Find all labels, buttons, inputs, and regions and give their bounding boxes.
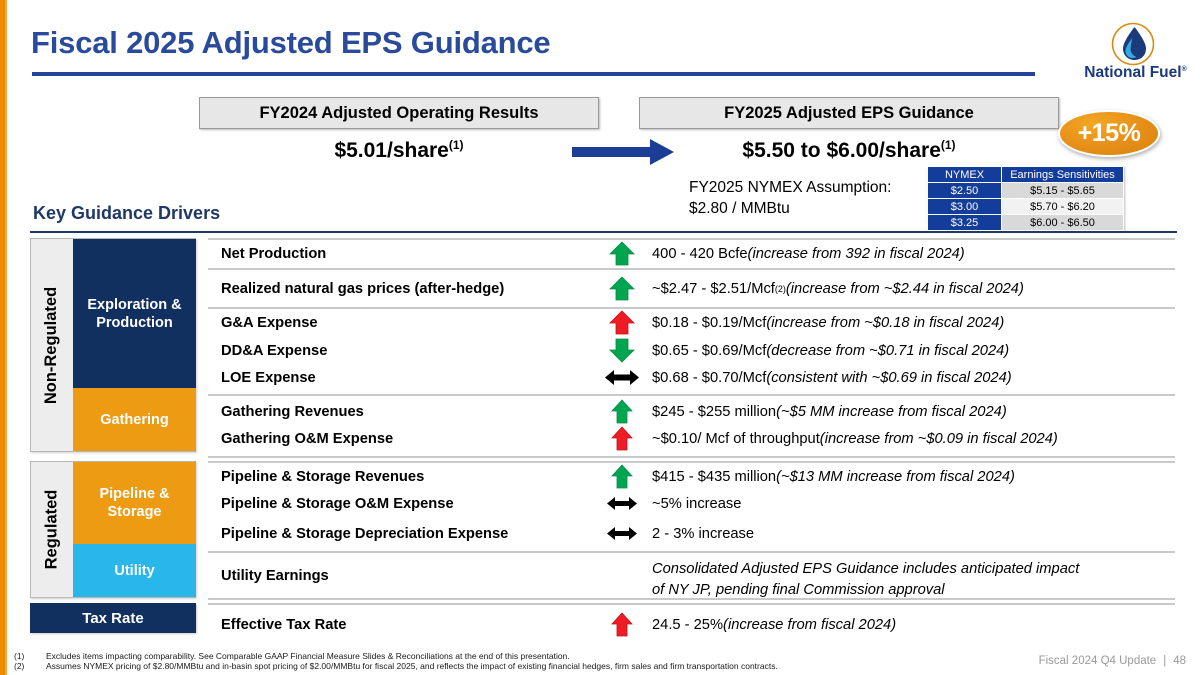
driver-label: Gathering O&M Expense: [221, 425, 393, 452]
driver-value: $0.68 - $0.70/Mcf (consistent with ~$0.6…: [652, 364, 1012, 391]
arrow-double-black-icon: [604, 521, 640, 546]
slide-footer: Fiscal 2024 Q4 Update|48: [1039, 655, 1186, 667]
footer-deck-name: Fiscal 2024 Q4 Update: [1039, 655, 1157, 667]
row-separator: [208, 394, 1175, 396]
cell-nymex: $2.50: [928, 183, 1002, 199]
driver-label: LOE Expense: [221, 364, 316, 391]
fy2024-value-text: $5.01/share: [334, 139, 448, 162]
section-heading: Key Guidance Drivers: [33, 203, 220, 224]
fy2025-value-footnote: (1): [941, 138, 956, 152]
footnote-marker: (2): [14, 661, 36, 671]
segment-gathering: Gathering: [73, 388, 196, 451]
footnote-text: Assumes NYMEX pricing of $2.80/MMBtu and…: [46, 661, 778, 671]
driver-label: Net Production: [221, 240, 326, 267]
driver-value: ~$2.47 - $2.51/Mcf(2) (increase from ~$2…: [652, 275, 1024, 302]
cell-earnings: $6.00 - $6.50: [1002, 215, 1124, 231]
table-header-row: NYMEX Earnings Sensitivities: [928, 167, 1124, 183]
arrow-double-black-icon: [604, 365, 640, 390]
driver-value-note: (increase from fiscal 2024): [723, 617, 896, 633]
driver-value: $0.65 - $0.69/Mcf (decrease from ~$0.71 …: [652, 337, 1009, 364]
segment-group-label-text: Non-Regulated: [43, 286, 62, 403]
nymex-assumption-line1: FY2025 NYMEX Assumption:: [689, 177, 891, 198]
cell-earnings: $5.70 - $6.20: [1002, 199, 1124, 215]
driver-label: Pipeline & Storage Depreciation Expense: [221, 520, 508, 547]
earnings-sensitivities-table: NYMEX Earnings Sensitivities $2.50 $5.15…: [927, 166, 1124, 231]
driver-value-main: $0.18 - $0.19/Mcf: [652, 315, 766, 331]
driver-value: ~$0.10/ Mcf of throughput (increase from…: [652, 425, 1058, 452]
driver-value-main: $0.68 - $0.70/Mcf: [652, 370, 766, 386]
driver-label: Utility Earnings: [221, 562, 329, 589]
segment-tax-rate: Tax Rate: [30, 603, 196, 633]
driver-value: ~5% increase: [652, 490, 741, 517]
table-row: $3.25 $6.00 - $6.50: [928, 215, 1124, 231]
segment-group-label-regulated: Regulated: [31, 462, 73, 597]
logo-trademark: ®: [1182, 66, 1187, 73]
footnote-2: (2) Assumes NYMEX pricing of $2.80/MMBtu…: [14, 661, 1014, 672]
arrow-down-green-icon: [604, 338, 640, 363]
segment-group-regulated: Regulated Pipeline & Storage Utility: [30, 461, 196, 598]
title-underline: [32, 72, 1035, 76]
driver-label: Pipeline & Storage Revenues: [221, 463, 424, 490]
segment-group-non-regulated: Non-Regulated Exploration & Production G…: [30, 238, 196, 452]
fy2025-guidance-box: FY2025 Adjusted EPS Guidance: [639, 97, 1059, 129]
row-separator: [208, 456, 1175, 458]
row-separator: [208, 268, 1175, 270]
driver-value-main: $415 - $435 million: [652, 469, 776, 485]
driver-value-note: (consistent with ~$0.69 in fiscal 2024): [766, 370, 1011, 386]
driver-value-note: (decrease from ~$0.71 in fiscal 2024): [766, 343, 1009, 359]
row-separator: [208, 603, 1175, 605]
arrow-up-red-icon: [604, 426, 640, 451]
driver-label: DD&A Expense: [221, 337, 327, 364]
page-title: Fiscal 2025 Adjusted EPS Guidance: [31, 25, 550, 61]
table-row: $2.50 $5.15 - $5.65: [928, 183, 1124, 199]
driver-value-note: (~$13 MM increase from fiscal 2024): [776, 469, 1015, 485]
segment-exploration-production: Exploration & Production: [73, 239, 196, 388]
driver-value-main: $0.65 - $0.69/Mcf: [652, 343, 766, 359]
arrow-up-green-icon: [604, 399, 640, 424]
slide-canvas: Fiscal 2025 Adjusted EPS Guidance Nation…: [0, 0, 1200, 675]
driver-label: G&A Expense: [221, 309, 318, 336]
driver-value: 400 - 420 Bcfe (increase from 392 in fis…: [652, 240, 965, 267]
arrow-up-red-icon: [604, 310, 640, 335]
utility-note-line2: of NY JP, pending final Commission appro…: [652, 580, 1079, 601]
driver-value: 2 - 3% increase: [652, 520, 754, 547]
driver-value-note: (increase from ~$0.18 in fiscal 2024): [766, 315, 1004, 331]
cell-nymex: $3.25: [928, 215, 1002, 231]
segment-group-label-text: Regulated: [43, 490, 62, 570]
nymex-assumption: FY2025 NYMEX Assumption: $2.80 / MMBtu: [689, 177, 891, 219]
driver-value: $0.18 - $0.19/Mcf (increase from ~$0.18 …: [652, 309, 1004, 336]
arrow-up-green-icon: [604, 241, 640, 266]
driver-value-main: 24.5 - 25%: [652, 617, 723, 633]
segment-pipeline-storage: Pipeline & Storage: [73, 462, 196, 544]
footnote-marker: (1): [14, 651, 36, 661]
arrow-up-red-icon: [604, 612, 640, 637]
fy2025-value-text: $5.50 to $6.00/share: [742, 139, 940, 162]
cell-earnings: $5.15 - $5.65: [1002, 183, 1124, 199]
driver-label: Gathering Revenues: [221, 398, 364, 425]
footer-divider: |: [1163, 655, 1166, 667]
left-accent-strip: [0, 0, 7, 675]
driver-value-note: (~$5 MM increase from fiscal 2024): [776, 404, 1007, 420]
footer-page-number: 48: [1173, 655, 1186, 667]
footnote-text: Excludes items impacting comparability. …: [46, 651, 570, 661]
arrow-up-green-icon: [604, 276, 640, 301]
driver-value: $415 - $435 million (~$13 MM increase fr…: [652, 463, 1015, 490]
company-logo: National Fuel®: [1078, 22, 1193, 84]
arrow-up-green-icon: [604, 464, 640, 489]
nymex-assumption-line2: $2.80 / MMBtu: [689, 198, 891, 219]
water-droplet-icon: [1111, 22, 1155, 66]
driver-value-note: (increase from ~$2.44 in fiscal 2024): [786, 281, 1024, 297]
right-arrow-icon: [572, 139, 674, 165]
section-underline: [30, 231, 1177, 233]
left-accent-strip-highlight: [5, 0, 7, 675]
table-row: $3.00 $5.70 - $6.20: [928, 199, 1124, 215]
utility-earnings-note: Consolidated Adjusted EPS Guidance inclu…: [652, 559, 1079, 601]
driver-value-main: 400 - 420 Bcfe: [652, 246, 748, 262]
segment-utility: Utility: [73, 544, 196, 597]
driver-value-footnote: (2): [775, 284, 786, 294]
logo-name: National Fuel: [1084, 64, 1181, 81]
driver-value-main: ~$2.47 - $2.51/Mcf: [652, 281, 775, 297]
arrow-double-black-icon: [604, 491, 640, 516]
growth-badge: +15%: [1058, 110, 1160, 157]
column-header-nymex: NYMEX: [928, 167, 1002, 183]
driver-label: Realized natural gas prices (after-hedge…: [221, 275, 504, 302]
driver-value-main: $245 - $255 million: [652, 404, 776, 420]
fy2025-value: $5.50 to $6.00/share(1): [639, 138, 1059, 163]
logo-wordmark: National Fuel®: [1078, 64, 1193, 82]
driver-value: $245 - $255 million (~$5 MM increase fro…: [652, 398, 1007, 425]
driver-value-main: ~5% increase: [652, 496, 741, 512]
driver-value-note: (increase from ~$0.09 in fiscal 2024): [820, 431, 1058, 447]
utility-note-line1: Consolidated Adjusted EPS Guidance inclu…: [652, 559, 1079, 580]
cell-nymex: $3.00: [928, 199, 1002, 215]
column-header-earnings: Earnings Sensitivities: [1002, 167, 1124, 183]
fy2024-value: $5.01/share(1): [199, 138, 599, 163]
driver-value-note: (increase from 392 in fiscal 2024): [748, 246, 965, 262]
driver-label: Pipeline & Storage O&M Expense: [221, 490, 454, 517]
driver-label: Effective Tax Rate: [221, 611, 346, 638]
driver-value: 24.5 - 25% (increase from fiscal 2024): [652, 611, 896, 638]
fy2024-results-box: FY2024 Adjusted Operating Results: [199, 97, 599, 129]
row-separator: [208, 551, 1175, 553]
driver-value-main: 2 - 3% increase: [652, 526, 754, 542]
driver-value-main: ~$0.10/ Mcf of throughput: [652, 431, 820, 447]
fy2024-value-footnote: (1): [449, 138, 464, 152]
segment-group-label-non-regulated: Non-Regulated: [31, 239, 73, 451]
